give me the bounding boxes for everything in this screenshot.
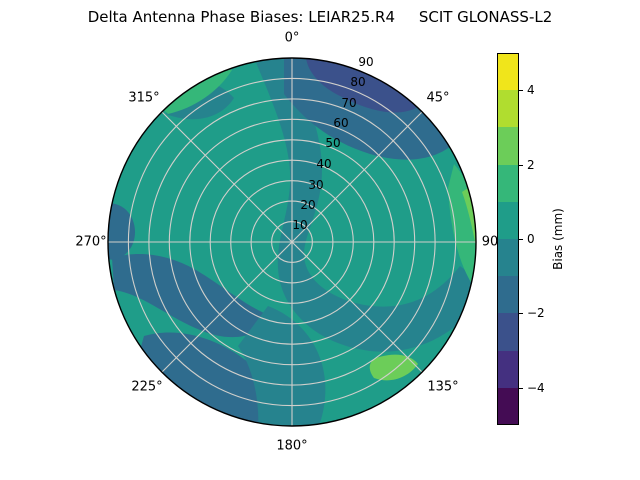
radial-label-30[interactable]: 30 <box>308 178 323 192</box>
colorbar-segment-4 <box>497 239 519 276</box>
azimuth-label-45[interactable]: 45° <box>426 91 449 106</box>
azimuth-label-90[interactable]: 90 <box>482 235 499 250</box>
colorbar-ticklabel-2: 0 <box>527 232 535 246</box>
radial-label-80[interactable]: 80 <box>350 75 365 89</box>
colorbar-tick-2 <box>519 239 523 240</box>
radial-label-40[interactable]: 40 <box>316 157 331 171</box>
azimuth-label-270[interactable]: 270° <box>75 235 106 250</box>
colorbar-tick-3 <box>519 313 523 314</box>
azimuth-label-135[interactable]: 135° <box>427 380 458 395</box>
colorbar-title: Bias (mm) <box>551 208 565 270</box>
azimuth-label-0[interactable]: 0° <box>285 31 300 46</box>
colorbar-tick-1 <box>519 165 523 166</box>
polar-axes: 0° 45° 90 135° 180° 225° 270° 315° 10 20… <box>108 58 476 426</box>
colorbar-segment-3 <box>497 276 519 313</box>
colorbar-segment-9 <box>497 53 519 90</box>
azimuth-label-225[interactable]: 225° <box>131 380 162 395</box>
radial-label-10[interactable]: 10 <box>292 218 307 232</box>
radial-label-60[interactable]: 60 <box>333 116 348 130</box>
colorbar-ticklabel-3: −2 <box>527 306 545 320</box>
colorbar-tick-0 <box>519 90 523 91</box>
colorbar-segment-2 <box>497 313 519 350</box>
radial-label-70[interactable]: 70 <box>341 96 356 110</box>
figure-title: Delta Antenna Phase Biases: LEIAR25.R4 S… <box>0 8 640 26</box>
azimuth-label-180[interactable]: 180° <box>276 439 307 454</box>
colorbar-segment-6 <box>497 165 519 202</box>
radial-label-50[interactable]: 50 <box>325 136 340 150</box>
colorbar-segment-0 <box>497 388 519 425</box>
azimuth-label-315[interactable]: 315° <box>128 91 159 106</box>
colorbar-segment-8 <box>497 90 519 127</box>
colorbar-segment-1 <box>497 351 519 388</box>
colorbar-segment-5 <box>497 202 519 239</box>
colorbar[interactable] <box>497 53 519 425</box>
matplotlib-figure: Delta Antenna Phase Biases: LEIAR25.R4 S… <box>0 0 640 480</box>
polar-grid <box>108 58 476 426</box>
colorbar-tick-4 <box>519 388 523 389</box>
colorbar-segment-7 <box>497 127 519 164</box>
colorbar-ticklabel-4: −4 <box>527 381 545 395</box>
radial-label-20[interactable]: 20 <box>300 198 315 212</box>
colorbar-ticklabel-1: 2 <box>527 158 535 172</box>
polar-contour-plot <box>108 58 476 426</box>
colorbar-ticklabel-0: 4 <box>527 83 535 97</box>
radial-label-90[interactable]: 90 <box>358 55 373 69</box>
